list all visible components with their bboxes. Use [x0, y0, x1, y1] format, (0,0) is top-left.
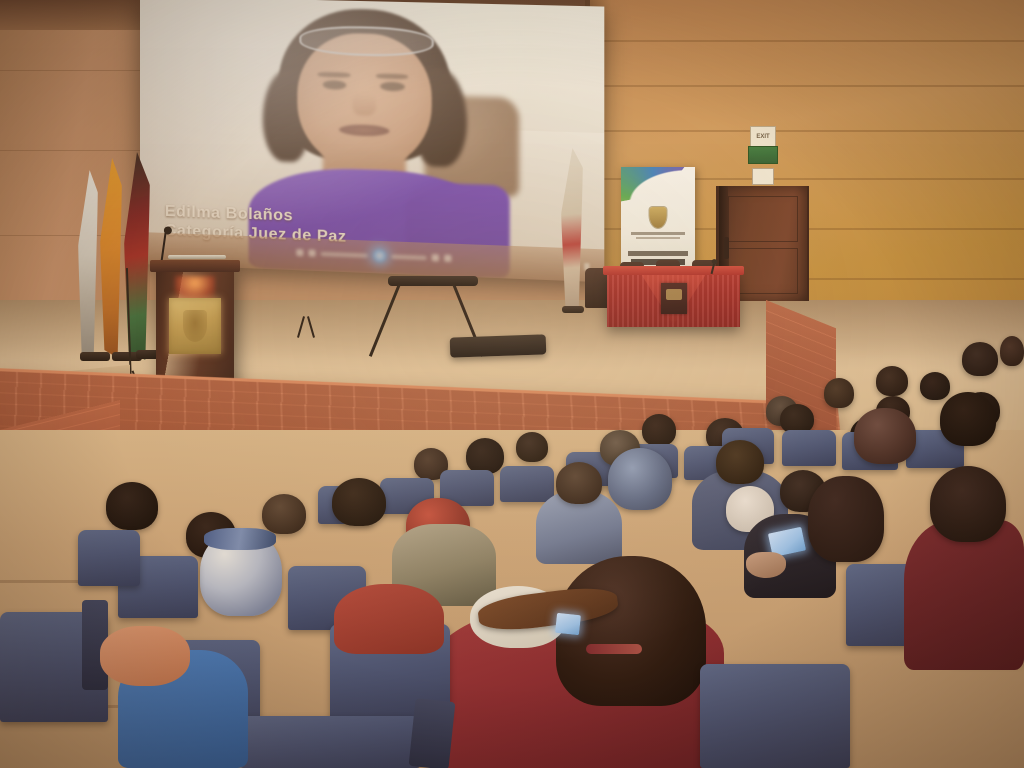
- audience-head: [262, 494, 306, 534]
- banner-text-line-3: [628, 251, 687, 256]
- progress-knob[interactable]: [373, 249, 386, 263]
- person-braided-hair: [854, 408, 916, 464]
- seat[interactable]: [78, 530, 140, 586]
- emergency-sign-green: [748, 146, 778, 164]
- audience-head-long-hair: [808, 476, 884, 562]
- audience-head: [824, 378, 854, 408]
- auditorium-photo: Edilma Bolaños Categoría Juez de Paz EXI…: [0, 0, 1024, 768]
- progress-bar-remaining[interactable]: [391, 254, 426, 259]
- video-subject-brow-right: [376, 73, 409, 79]
- flag-base-left: [80, 352, 110, 361]
- exit-sign: EXIT: [750, 126, 776, 147]
- person-terracotta-top: [334, 584, 444, 654]
- audience-head: [876, 366, 908, 396]
- podium-light-bar: [168, 255, 226, 259]
- seat[interactable]: [240, 716, 420, 768]
- projection-screen: Edilma Bolaños Categoría Juez de Paz: [140, 0, 604, 282]
- audience-head: [962, 342, 998, 376]
- audience-head: [716, 440, 764, 484]
- podium-lamp-glow: [175, 276, 215, 300]
- foreground-phone-light: [555, 613, 581, 635]
- audience-body-maroon: [904, 520, 1024, 670]
- prev-button[interactable]: [296, 249, 303, 256]
- table-logo-panel: [661, 283, 687, 314]
- table-top: [603, 266, 744, 275]
- video-subject-nose: [353, 93, 376, 115]
- audience-head: [642, 414, 676, 446]
- equipment-case: [450, 334, 547, 357]
- tripod: [300, 316, 301, 317]
- person-headwrap-blue: [608, 448, 672, 510]
- door-handle-icon[interactable]: [724, 237, 729, 259]
- headscarf-band: [204, 528, 276, 550]
- podium-desktop: [150, 260, 240, 272]
- banner-text-line-1: [631, 232, 684, 235]
- audience-head: [466, 438, 504, 474]
- audience-head: [556, 462, 602, 504]
- video-subject-brow-left: [318, 72, 350, 77]
- door-panel-top: [728, 196, 798, 242]
- seat-armrest[interactable]: [409, 698, 456, 768]
- progress-bar[interactable]: [321, 251, 368, 257]
- audience-head: [516, 432, 548, 462]
- seat[interactable]: [700, 664, 850, 768]
- volume-button[interactable]: [432, 254, 439, 261]
- podium-crest-plaque: [169, 298, 221, 354]
- head-table: [607, 271, 740, 327]
- fullscreen-button[interactable]: [444, 255, 451, 262]
- audience-head: [940, 392, 996, 446]
- flag-base-stage-right: [562, 306, 584, 313]
- wall-notice-sign: [752, 168, 774, 185]
- banner-text-line-2: [636, 237, 680, 239]
- audience-head: [1000, 336, 1024, 366]
- seat[interactable]: [782, 430, 836, 466]
- audience-head: [332, 478, 386, 526]
- audience-head: [920, 372, 950, 400]
- banner-crest-icon: [650, 207, 667, 228]
- audience-head: [930, 466, 1006, 542]
- person-peach-top: [100, 626, 190, 686]
- seat[interactable]: [500, 466, 554, 502]
- play-button[interactable]: [309, 249, 316, 256]
- necklace: [586, 644, 642, 654]
- keyboard-stand-top: [388, 276, 478, 286]
- banner-color-arc: [621, 167, 693, 203]
- hand: [746, 552, 786, 578]
- audience-head: [106, 482, 158, 530]
